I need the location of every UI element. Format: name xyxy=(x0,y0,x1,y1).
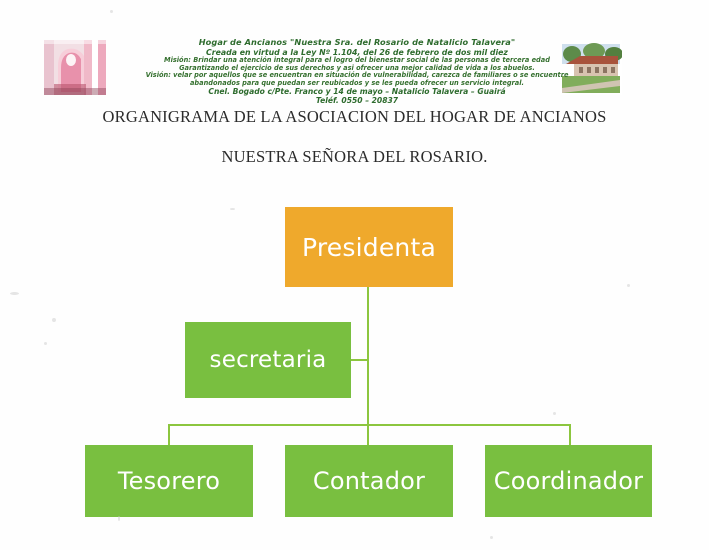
scan-artifact xyxy=(230,208,235,210)
scan-artifact xyxy=(386,482,389,485)
org-node-presidenta-label: Presidenta xyxy=(302,233,436,262)
org-chart: Presidenta secretaria Tesorero Contador … xyxy=(0,0,709,550)
scan-artifact xyxy=(44,342,47,345)
connector-trunk-vertical xyxy=(367,287,369,425)
scan-artifact xyxy=(553,412,556,415)
org-node-coordinador[interactable]: Coordinador xyxy=(485,445,652,517)
scan-artifact xyxy=(52,318,56,322)
scan-artifact xyxy=(118,516,120,521)
scan-artifact xyxy=(490,536,493,539)
org-node-presidenta[interactable]: Presidenta xyxy=(285,207,453,287)
org-node-secretaria[interactable]: secretaria xyxy=(185,322,351,398)
connector-drop-coordinador xyxy=(569,424,571,446)
connector-drop-contador xyxy=(367,424,369,446)
org-node-coordinador-label: Coordinador xyxy=(494,467,643,495)
connector-secretaria-stub xyxy=(351,359,368,361)
connector-horizontal-bus xyxy=(168,424,571,426)
org-node-tesorero-label: Tesorero xyxy=(118,467,220,495)
document-page: Hogar de Ancianos "Nuestra Sra. del Rosa… xyxy=(0,0,709,550)
scan-artifact xyxy=(627,284,630,287)
org-node-contador[interactable]: Contador xyxy=(285,445,453,517)
scan-artifact xyxy=(110,10,113,13)
org-node-secretaria-label: secretaria xyxy=(210,347,327,373)
scan-artifact xyxy=(10,292,19,295)
connector-drop-tesorero xyxy=(168,424,170,446)
org-node-tesorero[interactable]: Tesorero xyxy=(85,445,253,517)
org-node-contador-label: Contador xyxy=(313,467,425,495)
